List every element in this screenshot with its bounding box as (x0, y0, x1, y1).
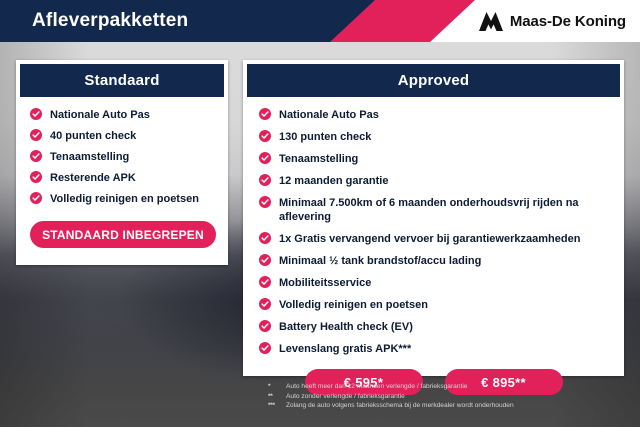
list-item: Tenaamstelling (259, 152, 612, 166)
feature-label: Battery Health check (EV) (279, 320, 612, 334)
package-card-standaard: Standaard Nationale Auto Pas 40 punten c… (16, 60, 228, 265)
feature-label: 130 punten check (279, 130, 612, 144)
check-circle-icon (30, 171, 42, 183)
feature-label: Mobiliteitsservice (279, 276, 612, 290)
feature-label: Nationale Auto Pas (50, 108, 218, 122)
list-item: Volledig reinigen en poetsen (30, 192, 218, 206)
check-circle-icon (30, 108, 42, 120)
check-circle-icon (259, 108, 271, 120)
footnote-marker: * (268, 382, 286, 392)
check-circle-icon (259, 196, 271, 208)
list-item: 1x Gratis vervangend vervoer bij garanti… (259, 232, 612, 246)
feature-label: 40 punten check (50, 129, 218, 143)
maas-de-koning-m-logo-icon (479, 12, 503, 31)
brand-lockup: Maas-De Koning (479, 0, 626, 42)
check-circle-icon (259, 276, 271, 288)
feature-list-standaard: Nationale Auto Pas 40 punten check Tenaa… (16, 97, 228, 206)
feature-label: 12 maanden garantie (279, 174, 612, 188)
feature-label: Minimaal 7.500km of 6 maanden onderhouds… (279, 196, 612, 224)
list-item: 130 punten check (259, 130, 612, 144)
feature-label: Levenslang gratis APK*** (279, 342, 612, 356)
list-item: Tenaamstelling (30, 150, 218, 164)
list-item: 12 maanden garantie (259, 174, 612, 188)
check-circle-icon (30, 150, 42, 162)
list-item: Minimaal ½ tank brandstof/accu lading (259, 254, 612, 268)
list-item: Levenslang gratis APK*** (259, 342, 612, 356)
feature-label: Volledig reinigen en poetsen (50, 192, 218, 206)
card-title-standaard: Standaard (20, 64, 224, 97)
feature-label: Resterende APK (50, 171, 218, 185)
footnote-row: * Auto heeft meer dan 12 maanden verleng… (268, 382, 628, 392)
feature-label: Tenaamstelling (279, 152, 612, 166)
list-item: Mobiliteitsservice (259, 276, 612, 290)
list-item: 40 punten check (30, 129, 218, 143)
footnote-text: Auto heeft meer dan 12 maanden verlengde… (286, 382, 628, 392)
standaard-inbegrepen-button[interactable]: STANDAARD INBEGREPEN (30, 221, 216, 248)
check-circle-icon (259, 342, 271, 354)
package-card-approved: Approved Nationale Auto Pas 130 punten c… (243, 60, 624, 376)
footnote-marker: ** (268, 392, 286, 402)
card-title-approved: Approved (247, 64, 620, 97)
footnote-text: Zolang de auto volgens fabrieksschema bi… (286, 401, 628, 411)
check-circle-icon (259, 320, 271, 332)
check-circle-icon (259, 130, 271, 142)
feature-label: Tenaamstelling (50, 150, 218, 164)
check-circle-icon (30, 192, 42, 204)
feature-list-approved: Nationale Auto Pas 130 punten check Tena… (243, 97, 624, 356)
list-item: Volledig reinigen en poetsen (259, 298, 612, 312)
list-item: Nationale Auto Pas (259, 108, 612, 122)
check-circle-icon (259, 152, 271, 164)
feature-label: 1x Gratis vervangend vervoer bij garanti… (279, 232, 612, 246)
footnote-row: *** Zolang de auto volgens fabrieksschem… (268, 401, 628, 411)
footnotes-block: * Auto heeft meer dan 12 maanden verleng… (268, 382, 628, 411)
page-title: Afleverpakketten (32, 0, 188, 42)
page-header: Afleverpakketten Maas-De Koning (0, 0, 640, 42)
footnote-row: ** Auto zonder verlengde / fabrieksgaran… (268, 392, 628, 402)
list-item: Nationale Auto Pas (30, 108, 218, 122)
feature-label: Volledig reinigen en poetsen (279, 298, 612, 312)
check-circle-icon (259, 254, 271, 266)
cta-wrapper-standaard: STANDAARD INBEGREPEN (16, 213, 228, 248)
brand-name: Maas-De Koning (510, 13, 626, 30)
feature-label: Minimaal ½ tank brandstof/accu lading (279, 254, 612, 268)
list-item: Minimaal 7.500km of 6 maanden onderhouds… (259, 196, 612, 224)
check-circle-icon (259, 298, 271, 310)
feature-label: Nationale Auto Pas (279, 108, 612, 122)
check-circle-icon (30, 129, 42, 141)
check-circle-icon (259, 174, 271, 186)
afleverpakketten-page: Afleverpakketten Maas-De Koning Standaar… (0, 0, 640, 427)
footnote-text: Auto zonder verlengde / fabrieksgarantie (286, 392, 628, 402)
check-circle-icon (259, 232, 271, 244)
list-item: Resterende APK (30, 171, 218, 185)
list-item: Battery Health check (EV) (259, 320, 612, 334)
footnote-marker: *** (268, 401, 286, 411)
